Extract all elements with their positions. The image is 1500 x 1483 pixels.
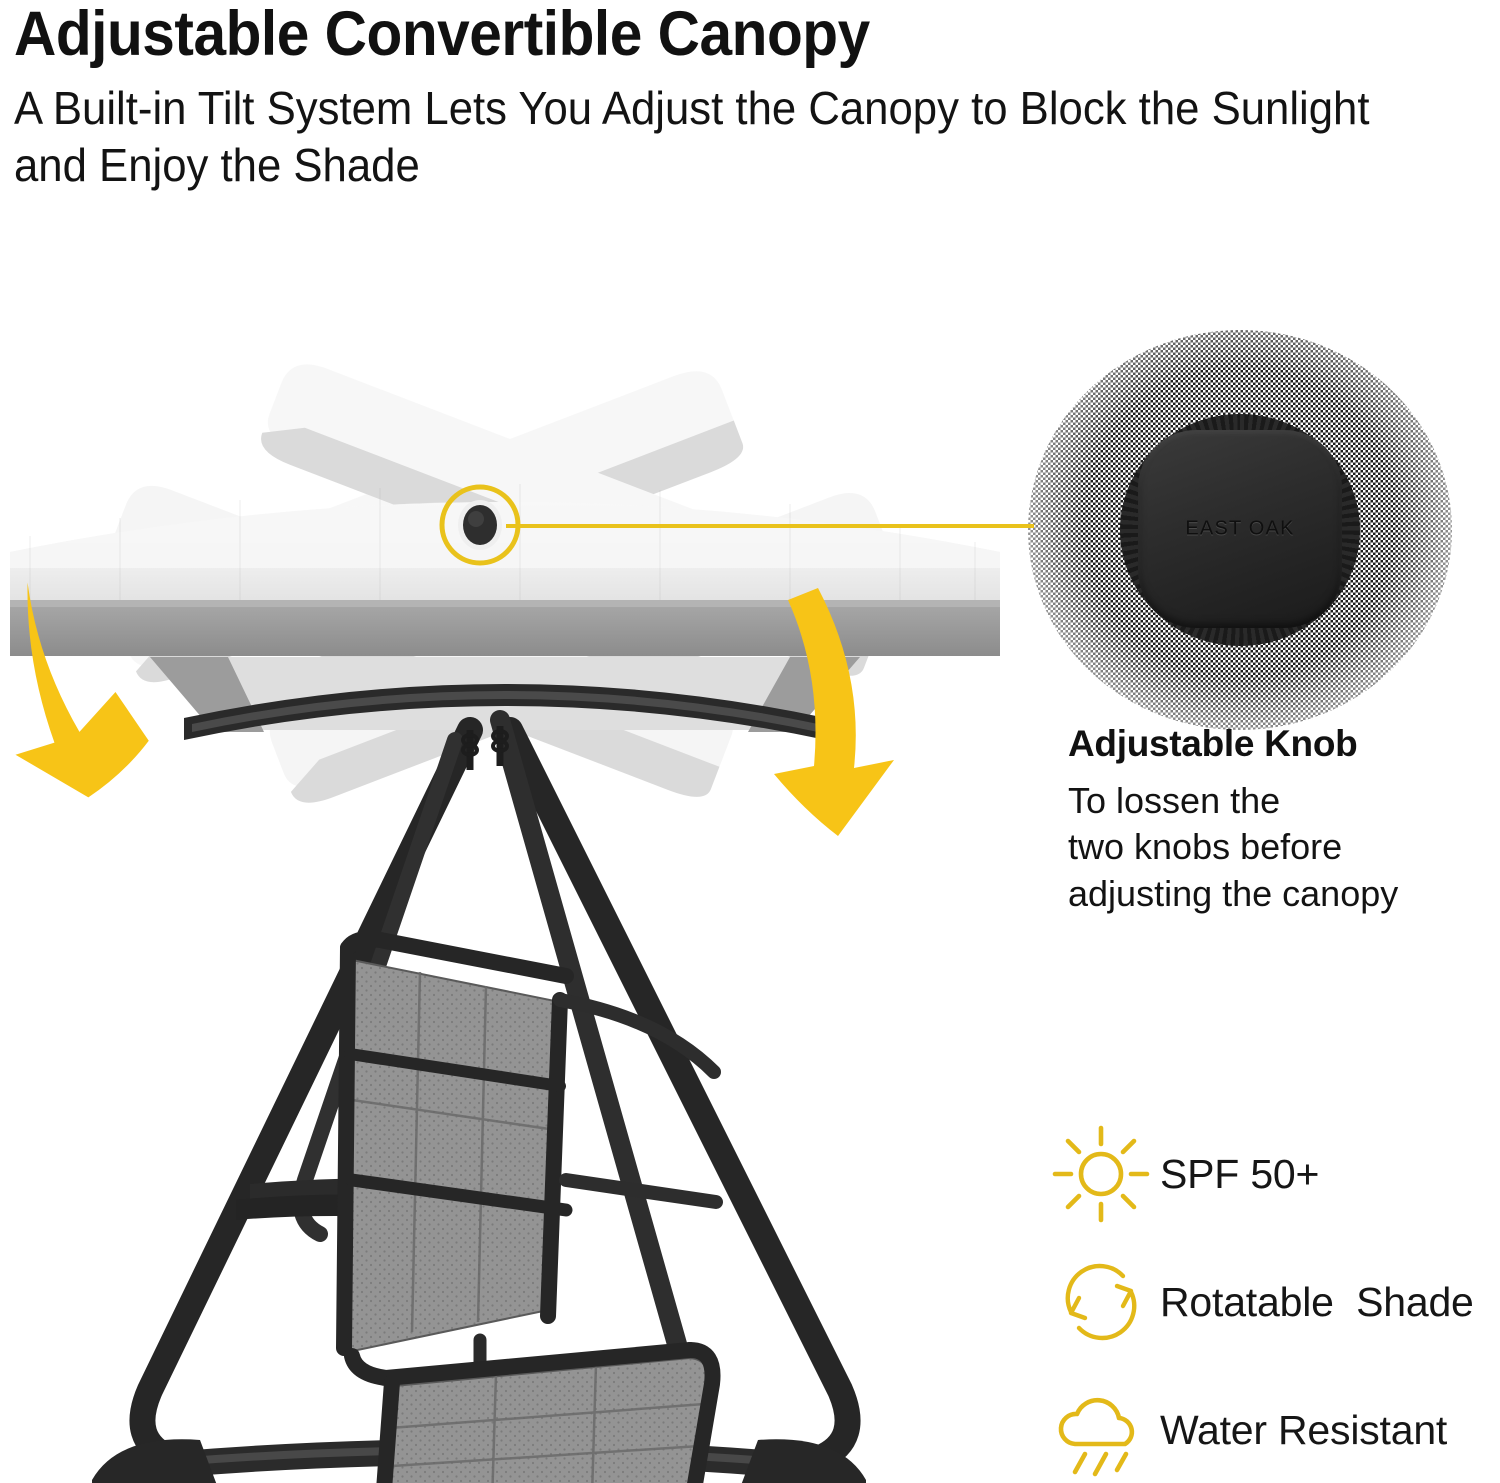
page-subtitle: A Built-in Tilt System Lets You Adjust t…	[14, 80, 1401, 193]
page-title: Adjustable Convertible Canopy	[14, 2, 1260, 66]
knob-brand-label: EAST OAK	[1138, 518, 1342, 541]
knob-leader-line	[506, 524, 1034, 528]
headline-block: Adjustable Convertible Canopy A Built-in…	[14, 2, 1354, 193]
rain-cloud-icon	[1042, 1378, 1160, 1482]
knob-callout-description: To lossen the two knobs before adjusting…	[1068, 778, 1488, 916]
feature-item-rotatable: Rotatable Shade	[1042, 1238, 1500, 1366]
left-foot	[92, 1439, 218, 1483]
rotate-icon	[1042, 1250, 1160, 1354]
knob-callout-heading: Adjustable Knob	[1068, 722, 1488, 766]
feature-item-spf: SPF 50+	[1042, 1110, 1500, 1238]
infographic-page: Adjustable Convertible Canopy A Built-in…	[0, 0, 1500, 1483]
knob-callout-text: Adjustable Knob To lossen the two knobs …	[1068, 722, 1488, 917]
adjustable-knob-image: EAST OAK	[1120, 414, 1360, 646]
feature-label-water: Water Resistant	[1160, 1407, 1447, 1454]
knob-detail-callout: EAST OAK	[1028, 330, 1452, 730]
sun-icon	[1042, 1122, 1160, 1226]
feature-item-water: Water Resistant	[1042, 1366, 1500, 1483]
feature-label-spf: SPF 50+	[1160, 1151, 1319, 1198]
feature-list: SPF 50+ Rotatable Shade	[1042, 1110, 1500, 1483]
knob-cap: EAST OAK	[1138, 430, 1342, 628]
product-illustration	[0, 300, 1010, 1483]
feature-label-rotatable: Rotatable Shade	[1160, 1279, 1474, 1326]
